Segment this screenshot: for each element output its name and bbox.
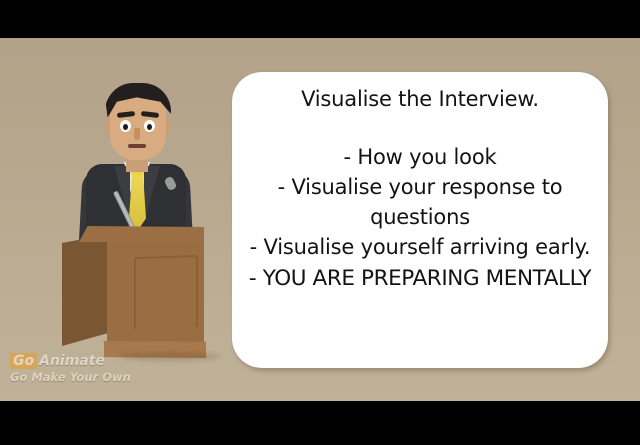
podium-panel-inset [134,255,198,329]
bubble-line-1: - How you look [240,142,600,172]
podium-ground-shadow [120,352,220,361]
podium-top-surface [62,226,204,242]
video-frame: Visualise the Interview. - How you look … [0,0,640,445]
nose [134,128,140,140]
speech-bubble: Visualise the Interview. - How you look … [232,72,608,368]
letterbox-bar-bottom [0,401,640,445]
bubble-line-4: - Visualise yourself arriving early. [240,232,600,263]
watermark-tagline: Go Make Your Own [10,370,131,385]
suit-lapel-right [144,166,160,222]
letterbox-bar-top [0,0,640,38]
speech-bubble-text: Visualise the Interview. - How you look … [240,84,600,294]
scene-background: Visualise the Interview. - How you look … [0,38,640,401]
pupil-right [147,124,152,130]
bubble-line-2: - Visualise your response to [240,172,600,202]
watermark-brand-suffix: Animate [39,353,105,369]
mouth [128,144,146,148]
watermark-brand-row: Go Animate [10,352,131,369]
pupil-left [123,124,128,130]
bubble-line-3: questions [240,202,600,232]
podium-side-panel [62,234,110,346]
bubble-line-title: Visualise the Interview. [240,84,600,114]
podium [62,226,204,366]
watermark-brand-prefix: Go [10,353,37,369]
goanimate-watermark: Go Animate Go Make Your Own [10,352,131,385]
bubble-line-5: - YOU ARE PREPARING MENTALLY [240,263,600,294]
